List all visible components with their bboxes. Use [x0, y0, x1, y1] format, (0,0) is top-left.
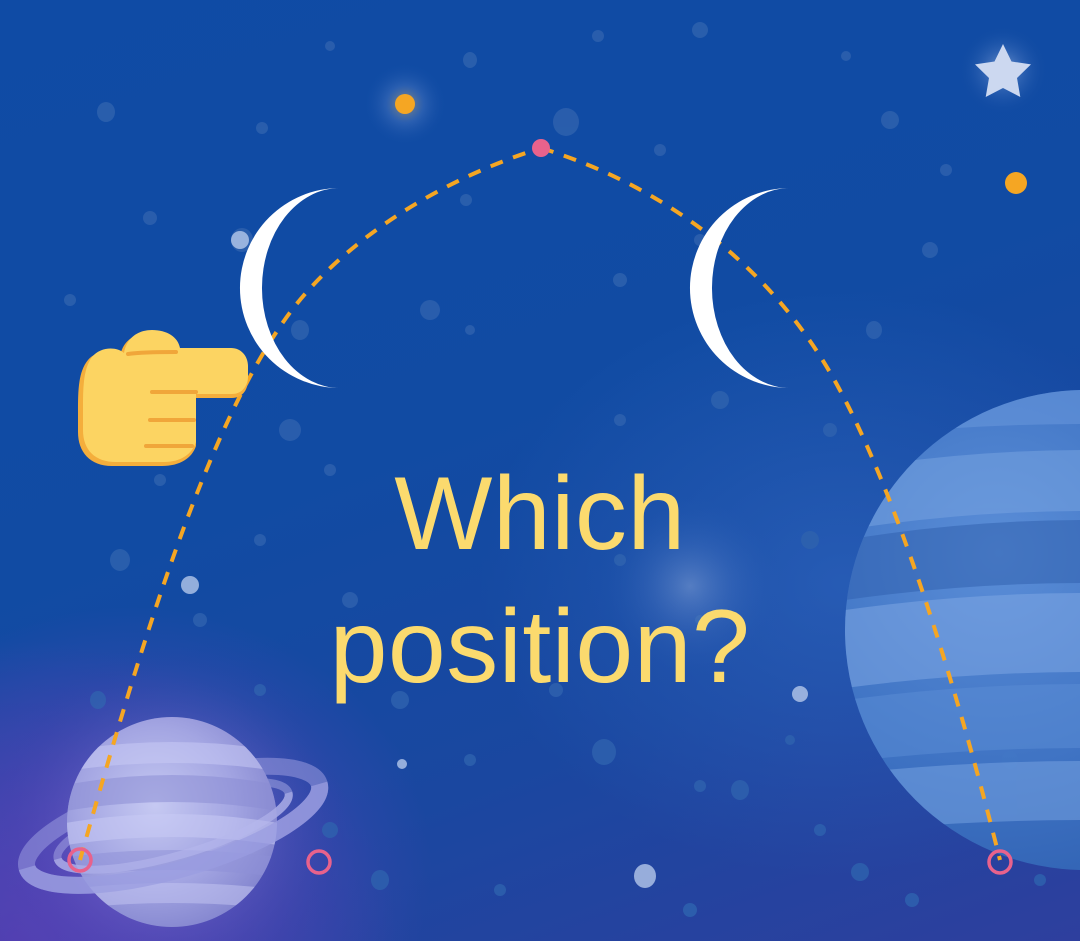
orange-dot-top-left: [363, 62, 447, 146]
space-scene: Which position?: [0, 0, 1080, 941]
planet-jupiter: [845, 376, 1080, 870]
orange-dot-top-right: [1005, 172, 1027, 194]
star-top-right: [959, 26, 1047, 114]
glow-center-right: [594, 490, 786, 682]
marker-apex: [532, 139, 550, 157]
planet-saturn: [0, 647, 347, 941]
scene-graphics: [0, 0, 1080, 941]
moon-left: [240, 188, 340, 388]
moon-right: [690, 188, 790, 388]
pointing-hand-icon: [78, 330, 248, 466]
